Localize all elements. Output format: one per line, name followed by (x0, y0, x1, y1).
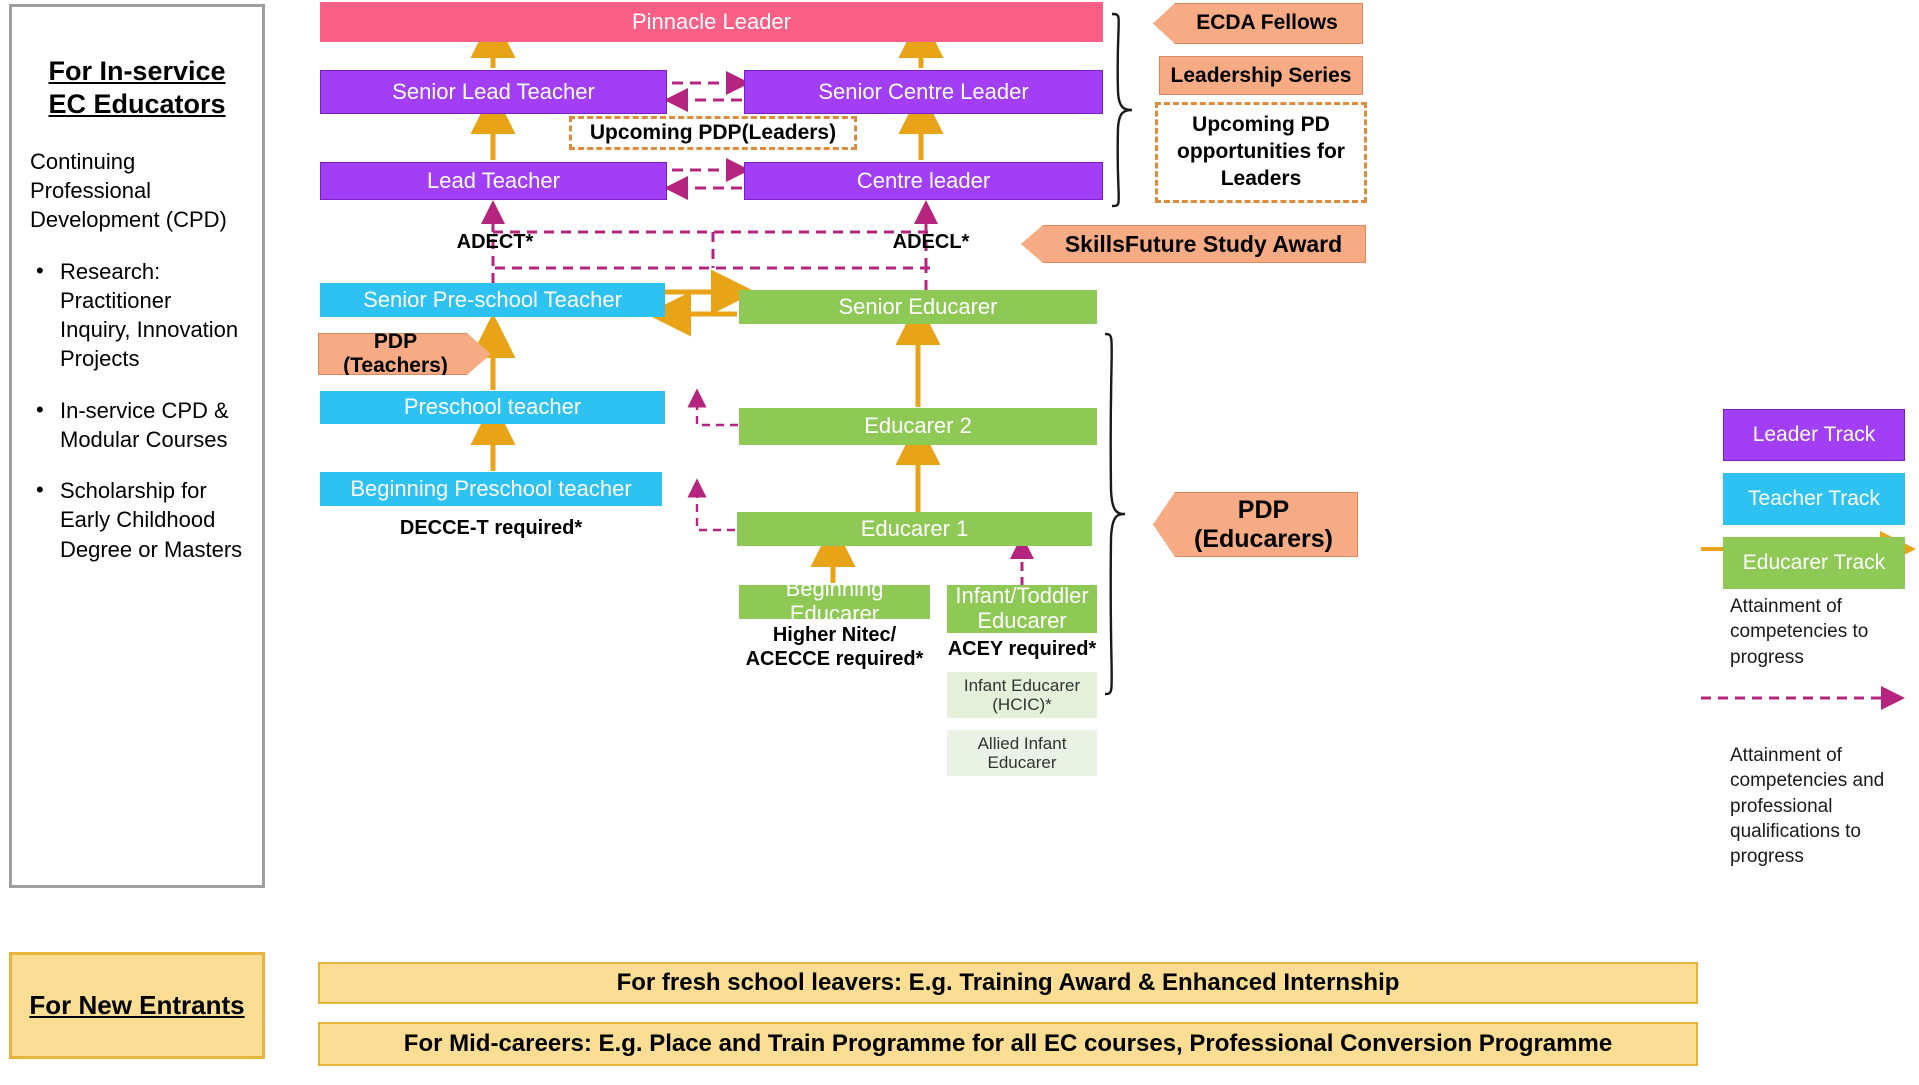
role-infant-toddler-educarer[interactable]: Infant/Toddler Educarer (947, 585, 1097, 633)
role-senior-educarer[interactable]: Senior Educarer (739, 290, 1097, 324)
badge-pdp-educarers[interactable]: PDP (Educarers) (1153, 492, 1358, 557)
badge-leadership-series[interactable]: Leadership Series (1159, 56, 1363, 95)
banner-fresh-school-leavers[interactable]: For fresh school leavers: E.g. Training … (318, 962, 1698, 1004)
role-senior-lead-teacher[interactable]: Senior Lead Teacher (320, 70, 667, 114)
panel-bullet: Research: Practitioner Inquiry, Innovati… (30, 257, 244, 374)
panel-bullet: In-service CPD & Modular Courses (30, 396, 244, 455)
badge-ecda-fellows[interactable]: ECDA Fellows (1153, 3, 1363, 44)
role-beginning-educarer[interactable]: Beginning Educarer (739, 585, 930, 619)
role-pinnacle-leader[interactable]: Pinnacle Leader (320, 2, 1103, 42)
panel-bullet: Scholarship for Early Childhood Degree o… (30, 476, 244, 564)
role-infant-educarer-hcic[interactable]: Infant Educarer (HCIC)* (947, 672, 1097, 718)
banner-mid-careers[interactable]: For Mid-careers: E.g. Place and Train Pr… (318, 1022, 1698, 1066)
role-senior-preschool-teacher[interactable]: Senior Pre-school Teacher (320, 283, 665, 317)
new-entrants-label: For New Entrants (29, 989, 244, 1023)
legend-solid-arrow-text: Attainment of competencies to progress (1730, 594, 1915, 670)
panel-title: For In-service EC Educators (30, 55, 244, 121)
role-centre-leader[interactable]: Centre leader (744, 162, 1103, 200)
legend-dashed-arrow-text: Attainment of competencies and professio… (1730, 743, 1919, 869)
in-service-educators-panel: For In-service EC Educators Continuing P… (9, 4, 265, 888)
annotation-decce-t-required: DECCE-T required* (386, 516, 596, 540)
legend-leader-track: Leader Track (1723, 409, 1905, 461)
role-beginning-preschool-teacher[interactable]: Beginning Preschool teacher (320, 472, 662, 506)
panel-subtitle: Continuing Professional Development (CPD… (30, 147, 244, 235)
annotation-acey-required: ACEY required* (947, 637, 1097, 661)
badge-upcoming-pdp-leaders[interactable]: Upcoming PDP(Leaders) (569, 116, 857, 150)
role-senior-centre-leader[interactable]: Senior Centre Leader (744, 70, 1103, 114)
legend-teacher-track: Teacher Track (1723, 473, 1905, 525)
role-educarer-1[interactable]: Educarer 1 (737, 512, 1092, 546)
annotation-adect: ADECT* (430, 230, 560, 254)
badge-upcoming-pd-opportunities[interactable]: Upcoming PD opportunities for Leaders (1155, 102, 1367, 203)
badge-pdp-teachers[interactable]: PDP (Teachers) (318, 333, 491, 375)
role-allied-infant-educarer[interactable]: Allied Infant Educarer (947, 730, 1097, 776)
annotation-higher-nitec-acecce: Higher Nitec/ ACECCE required* (739, 623, 930, 671)
role-educarer-2[interactable]: Educarer 2 (739, 408, 1097, 445)
badge-skillsfuture-study-award[interactable]: SkillsFuture Study Award (1021, 225, 1366, 263)
role-preschool-teacher[interactable]: Preschool teacher (320, 391, 665, 424)
new-entrants-panel: For New Entrants (9, 952, 265, 1059)
legend-educarer-track: Educarer Track (1723, 537, 1905, 589)
role-lead-teacher[interactable]: Lead Teacher (320, 162, 667, 200)
annotation-adecl: ADECL* (866, 230, 996, 254)
